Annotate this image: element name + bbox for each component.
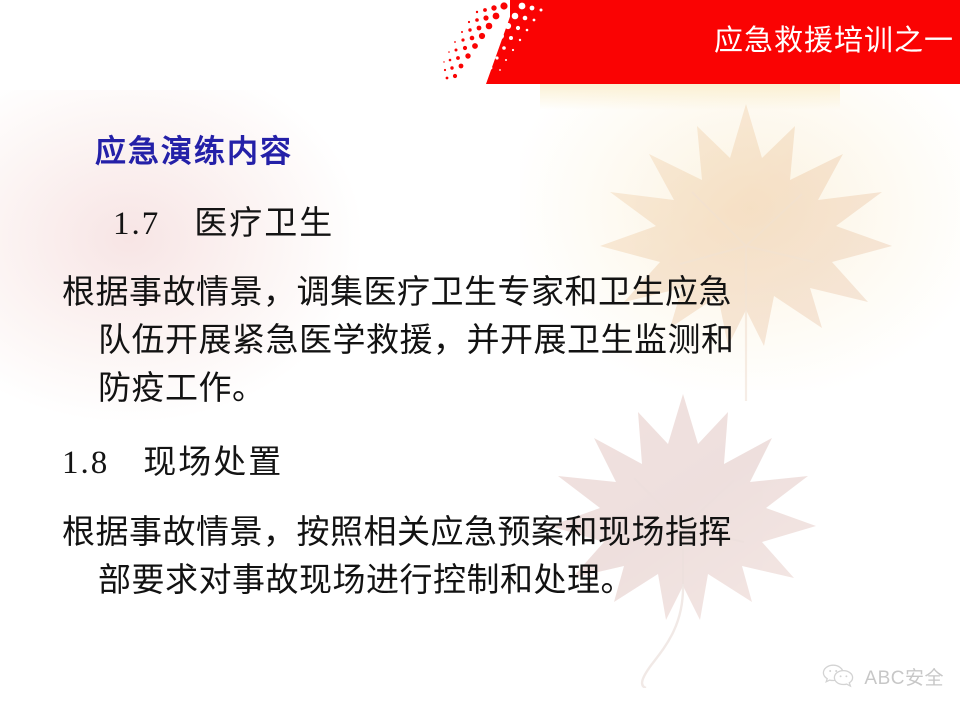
paragraph-line: 防疫工作。 [62, 364, 892, 412]
subsection-number: 1.7 [113, 206, 160, 242]
watermark-logo: ABC安全 [822, 662, 944, 690]
paragraph-line: 根据事故情景，调集医疗卫生专家和卫生应急 [62, 268, 892, 316]
watermark-text: ABC安全 [864, 663, 944, 690]
subsection-heading-17: 1.7医疗卫生 [113, 196, 334, 244]
page-title: 应急演练内容 [95, 126, 293, 171]
body-paragraph-18: 根据事故情景，按照相关应急预案和现场指挥 部要求对事故现场进行控制和处理。 [62, 508, 892, 604]
subsection-title: 现场处置 [143, 443, 283, 480]
wechat-icon [822, 662, 856, 690]
paragraph-line: 根据事故情景，按照相关应急预案和现场指挥 [62, 508, 892, 556]
header-title: 应急救援培训之一 [714, 24, 954, 58]
paragraph-line: 部要求对事故现场进行控制和处理。 [62, 556, 892, 604]
subsection-heading-18: 1.8现场处置 [62, 435, 283, 483]
subsection-title: 医疗卫生 [194, 204, 334, 241]
body-paragraph-17: 根据事故情景，调集医疗卫生专家和卫生应急 队伍开展紧急医学救援，并开展卫生监测和… [62, 268, 892, 412]
slide-content: 应急演练内容 1.7医疗卫生 根据事故情景，调集医疗卫生专家和卫生应急 队伍开展… [0, 0, 960, 720]
slide-canvas: 应急救援培训之一 应急演练内容 1.7医疗卫生 根据事故情景，调集医疗卫生专家和… [0, 0, 960, 720]
subsection-number: 1.8 [62, 445, 109, 481]
header-banner: 应急救援培训之一 [0, 0, 960, 84]
paragraph-line: 队伍开展紧急医学救援，并开展卫生监测和 [62, 316, 892, 364]
halftone-dots-icon [442, 0, 572, 84]
